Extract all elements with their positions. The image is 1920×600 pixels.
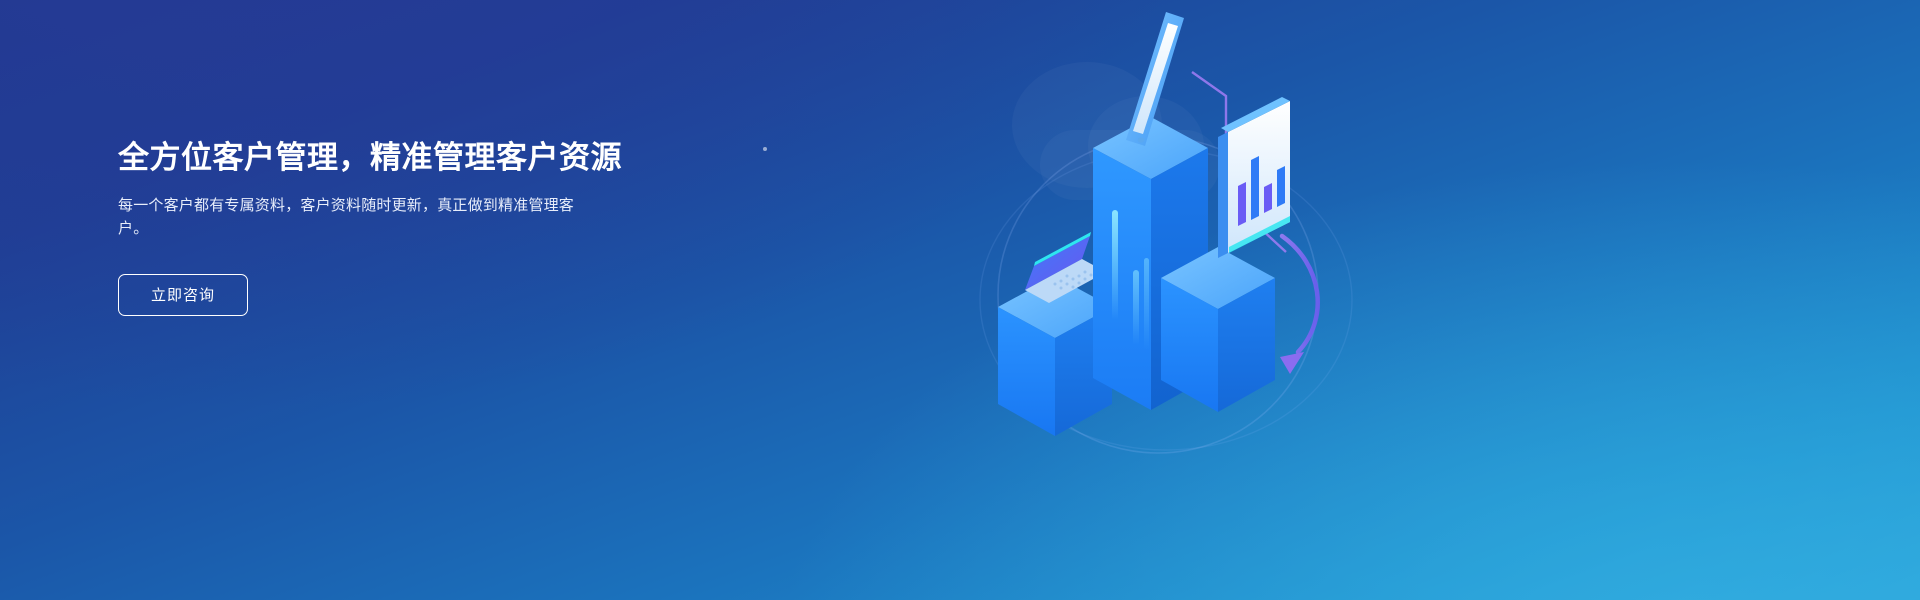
page-title: 全方位客户管理，精准管理客户资源 <box>118 136 678 180</box>
hero-description: 每一个客户都有专属资料，客户资料随时更新，真正做到精准管理客户。 <box>118 194 598 240</box>
chart-monitor-icon <box>1218 97 1290 258</box>
consult-now-button[interactable]: 立即咨询 <box>118 274 248 316</box>
hero-copy-block: 全方位客户管理，精准管理客户资源 每一个客户都有专属资料，客户资料随时更新，真正… <box>118 136 678 316</box>
hero-illustration <box>930 0 1490 600</box>
pillar-right <box>1161 247 1275 412</box>
hero-banner: 全方位客户管理，精准管理客户资源 每一个客户都有专属资料，客户资料随时更新，真正… <box>0 0 1920 600</box>
curved-arrow-right-head-icon <box>1280 352 1304 374</box>
sparkle-icon <box>763 147 767 151</box>
